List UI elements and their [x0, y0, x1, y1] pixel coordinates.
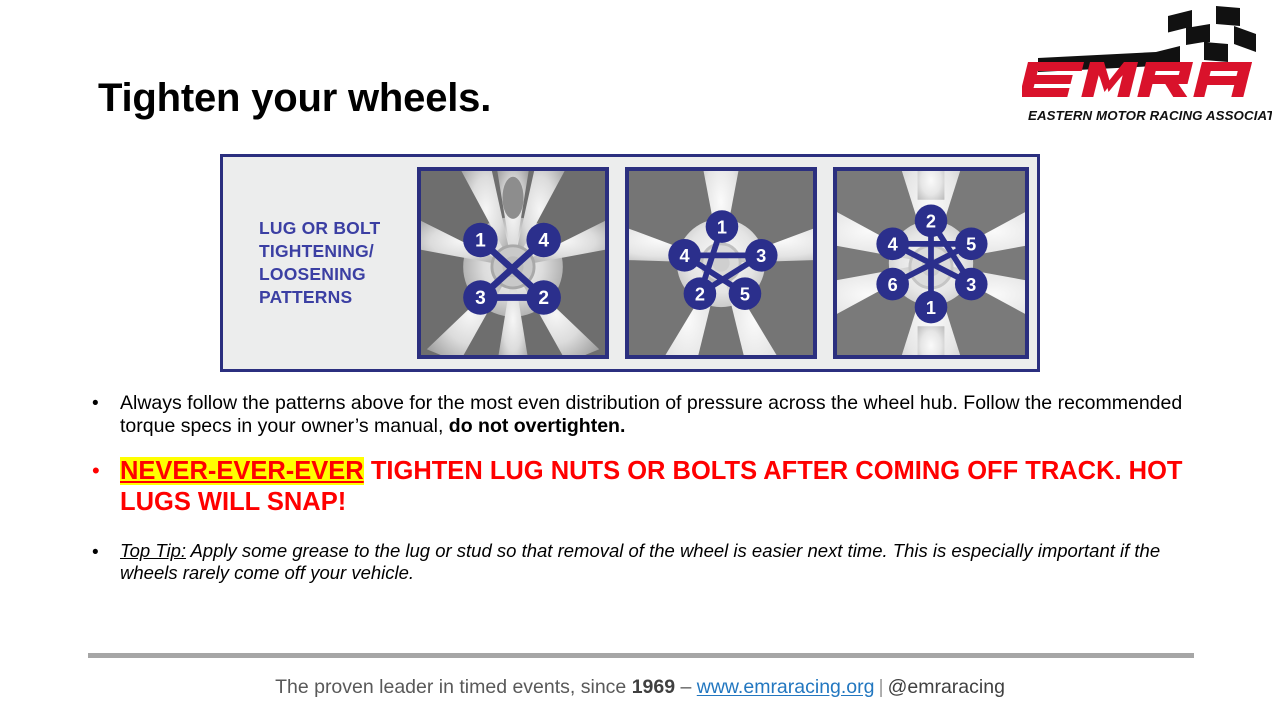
footer-divider	[88, 653, 1194, 658]
diagram-caption: LUG OR BOLT TIGHTENING/ LOOSENING PATTER…	[229, 217, 401, 309]
four-lug-pattern-panel: 1 4 3 2	[417, 167, 609, 359]
svg-text:4: 4	[538, 231, 549, 252]
lug-pattern-diagram: LUG OR BOLT TIGHTENING/ LOOSENING PATTER…	[220, 154, 1040, 372]
bullet-text-top-tip: Top Tip: Apply some grease to the lug or…	[120, 540, 1192, 584]
four-lug-wheel-graphic: 1 4 3 2	[421, 171, 605, 355]
emra-tagline-text: EASTERN MOTOR RACING ASSOCIATION	[1028, 108, 1272, 123]
bullet-marker-tip: •	[92, 540, 120, 564]
bullet-item-top-tip: • Top Tip: Apply some grease to the lug …	[92, 540, 1192, 584]
top-tip-rest: Apply some grease to the lug or stud so …	[120, 540, 1160, 583]
emra-wordmark	[1022, 62, 1252, 97]
six-lug-pattern-panel: 2 5 3 1 6 4	[833, 167, 1029, 359]
bullet-1-lead: Always follow the patterns above for the…	[120, 392, 1182, 437]
svg-text:6: 6	[888, 275, 898, 295]
never-ever-ever-highlight: NEVER-EVER-EVER	[120, 457, 364, 485]
footer-tagline: The proven leader in timed events, since…	[0, 676, 1280, 699]
bullet-text-patterns: Always follow the patterns above for the…	[120, 392, 1192, 438]
bullet-marker: •	[92, 392, 120, 415]
svg-text:4: 4	[680, 246, 691, 266]
svg-text:5: 5	[966, 235, 976, 255]
footer-social-handle: @emraracing	[888, 676, 1005, 698]
svg-text:2: 2	[695, 284, 705, 304]
svg-text:4: 4	[888, 235, 899, 255]
svg-text:1: 1	[717, 217, 727, 237]
five-lug-pattern-panel: 1 3 5 2 4	[625, 167, 817, 359]
emra-logo: EASTERN MOTOR RACING ASSOCIATION	[1022, 4, 1272, 132]
svg-text:1: 1	[475, 231, 486, 252]
bullet-item-patterns: • Always follow the patterns above for t…	[92, 392, 1192, 438]
svg-text:3: 3	[966, 275, 976, 295]
svg-text:1: 1	[926, 298, 936, 318]
bullet-1-bold-tail: do not overtighten.	[449, 415, 626, 437]
svg-text:5: 5	[740, 284, 750, 304]
six-lug-wheel-graphic: 2 5 3 1 6 4	[837, 171, 1025, 355]
svg-text:2: 2	[538, 288, 549, 309]
footer-website-link[interactable]: www.emraracing.org	[697, 676, 875, 698]
svg-text:2: 2	[926, 212, 936, 232]
footer-dash: –	[675, 676, 697, 698]
bullet-text-warning: NEVER-EVER-EVER TIGHTEN LUG NUTS OR BOLT…	[120, 456, 1192, 518]
footer-separator: |	[875, 676, 888, 698]
footer-year: 1969	[632, 676, 675, 698]
five-lug-wheel-graphic: 1 3 5 2 4	[629, 171, 813, 355]
svg-text:3: 3	[756, 246, 766, 266]
top-tip-label: Top Tip:	[120, 540, 186, 561]
footer-lead: The proven leader in timed events, since	[275, 676, 632, 698]
bullet-item-warning: • NEVER-EVER-EVER TIGHTEN LUG NUTS OR BO…	[92, 456, 1192, 518]
svg-text:3: 3	[475, 288, 486, 309]
bullet-marker-warning: •	[92, 456, 120, 484]
page-title: Tighten your wheels.	[98, 76, 491, 120]
body-bullet-list: • Always follow the patterns above for t…	[92, 392, 1192, 585]
